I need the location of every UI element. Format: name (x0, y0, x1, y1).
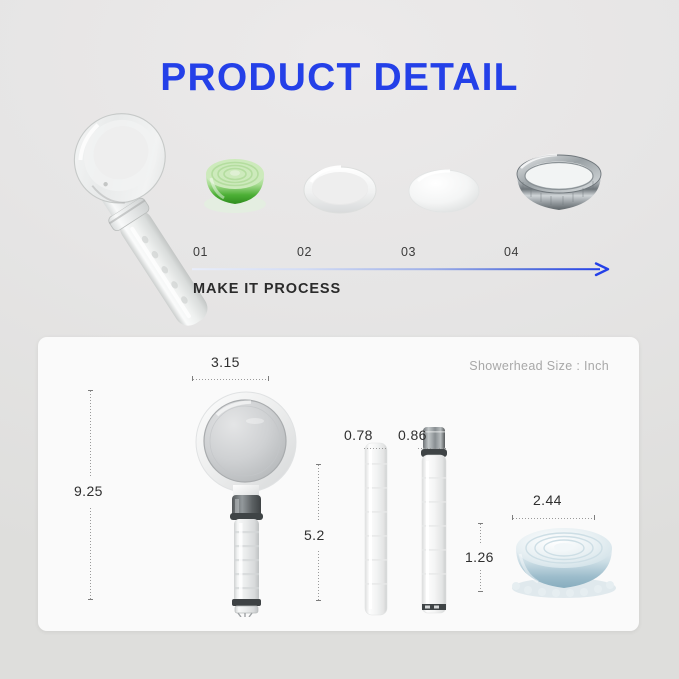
dim-label-showerhead-height: 9.25 (74, 483, 103, 499)
spec-panel: Showerhead Size : Inch (38, 337, 639, 631)
component-green-filter-cartridge (200, 148, 270, 218)
spec-panel-note: Showerhead Size : Inch (469, 359, 609, 373)
dim-tick-handle-bottom (316, 600, 321, 601)
dim-line-tube1-diameter (363, 448, 387, 449)
dim-label-showerhead-width: 3.15 (211, 354, 240, 370)
dim-tick-height-bottom (88, 599, 93, 600)
infographic-canvas: PRODUCT DETAIL (0, 0, 679, 679)
hero-showerhead-photo (42, 112, 232, 342)
component-chrome-ring-cap (513, 152, 605, 218)
process-arrow (192, 262, 616, 278)
spec-showerhead-drawing (189, 387, 304, 617)
page-title: PRODUCT DETAIL (0, 56, 679, 100)
dim-line-disc-diameter (512, 518, 594, 519)
component-white-ring-gasket (301, 160, 379, 216)
spec-filter-tube-capped (418, 425, 450, 617)
dim-line-disc-height-upper (480, 523, 481, 543)
step-number-04: 04 (504, 245, 519, 259)
dim-line-showerhead-width (192, 379, 268, 380)
dim-label-tube1-diameter: 0.78 (344, 427, 373, 443)
dim-line-height-upper (90, 390, 91, 478)
component-white-disc-filter (406, 165, 482, 215)
dim-tick-width-right (268, 376, 269, 381)
dim-line-disc-height-lower (480, 569, 481, 591)
dim-line-tube2-diameter (417, 448, 447, 449)
process-caption: MAKE IT PROCESS (193, 281, 341, 297)
spec-filter-tube-plain (363, 441, 389, 617)
dim-tick-disc-left (512, 515, 513, 520)
dim-tick-width-left (192, 376, 193, 381)
dim-line-handle-upper (318, 464, 319, 522)
dim-tick-handle-top (316, 464, 321, 465)
dim-label-handle-height: 5.2 (304, 527, 325, 543)
step-number-02: 02 (297, 245, 312, 259)
step-number-01: 01 (193, 245, 208, 259)
dim-tick-disc-height-top (478, 523, 483, 524)
dim-label-tube2-diameter: 0.86 (398, 427, 427, 443)
dim-line-height-lower (90, 507, 91, 599)
dim-tick-disc-height-bottom (478, 591, 483, 592)
spec-blue-filter-disc (504, 522, 624, 600)
dim-tick-disc-right (594, 515, 595, 520)
process-step-numbers: 01 02 03 04 (193, 245, 613, 261)
dim-label-disc-height: 1.26 (465, 549, 494, 565)
dim-line-handle-lower (318, 550, 319, 600)
dim-tick-height-top (88, 390, 93, 391)
dim-label-disc-diameter: 2.44 (533, 492, 562, 508)
step-number-03: 03 (401, 245, 416, 259)
